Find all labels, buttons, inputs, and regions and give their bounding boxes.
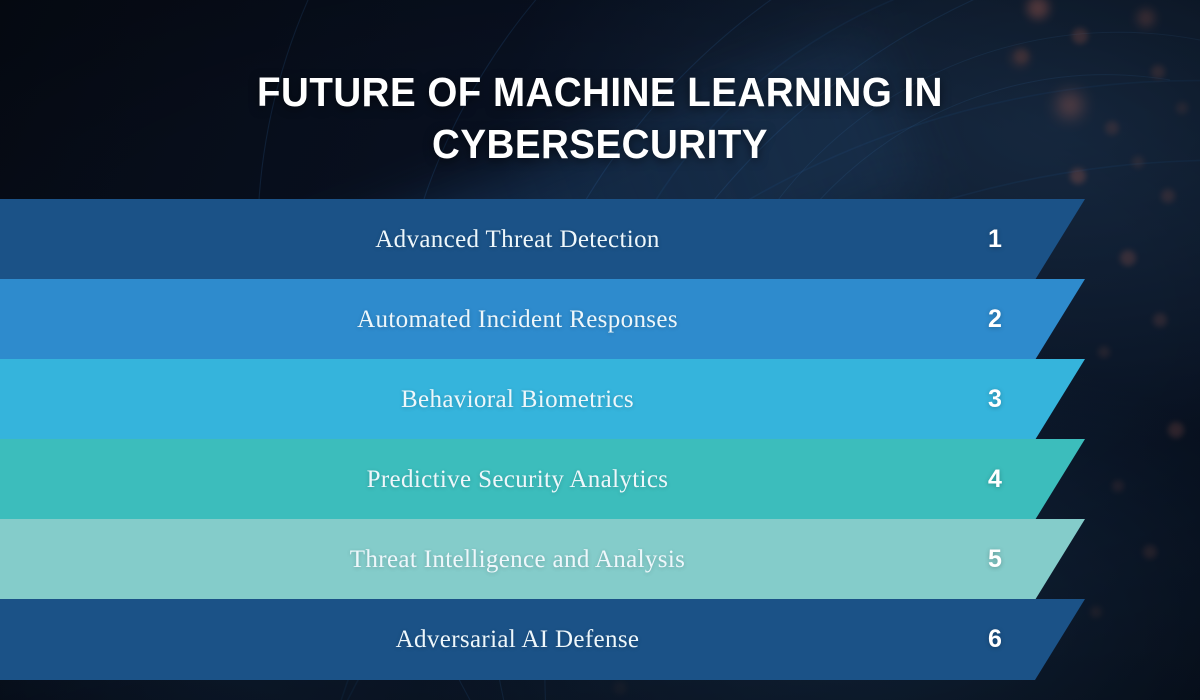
list-item-label: Adversarial AI Defense (0, 627, 1035, 652)
page-title-line-2: CYBERSECURITY (149, 118, 1051, 170)
list-item-label: Advanced Threat Detection (0, 227, 1035, 252)
list-item-number: 4 (955, 467, 1035, 492)
list-item-number: 1 (955, 227, 1035, 252)
list-bars: Advanced Threat Detection1Automated Inci… (0, 199, 1120, 680)
page-title-line-1: FUTURE OF MACHINE LEARNING IN (149, 66, 1051, 118)
list-item-number: 6 (955, 627, 1035, 652)
list-item[interactable]: Threat Intelligence and Analysis5 (0, 519, 1120, 600)
list-item[interactable]: Advanced Threat Detection1 (0, 199, 1120, 280)
page-title: FUTURE OF MACHINE LEARNING IN CYBERSECUR… (0, 66, 1200, 170)
list-item-number: 2 (955, 307, 1035, 332)
infographic-canvas: FUTURE OF MACHINE LEARNING IN CYBERSECUR… (0, 0, 1200, 700)
list-item-number: 5 (955, 547, 1035, 572)
list-item[interactable]: Automated Incident Responses2 (0, 279, 1120, 360)
list-item[interactable]: Behavioral Biometrics3 (0, 359, 1120, 440)
list-item[interactable]: Predictive Security Analytics4 (0, 439, 1120, 520)
list-item[interactable]: Adversarial AI Defense6 (0, 599, 1120, 680)
list-item-label: Automated Incident Responses (0, 307, 1035, 332)
list-item-label: Threat Intelligence and Analysis (0, 547, 1035, 572)
list-item-number: 3 (955, 387, 1035, 412)
list-item-label: Behavioral Biometrics (0, 387, 1035, 412)
list-item-label: Predictive Security Analytics (0, 467, 1035, 492)
